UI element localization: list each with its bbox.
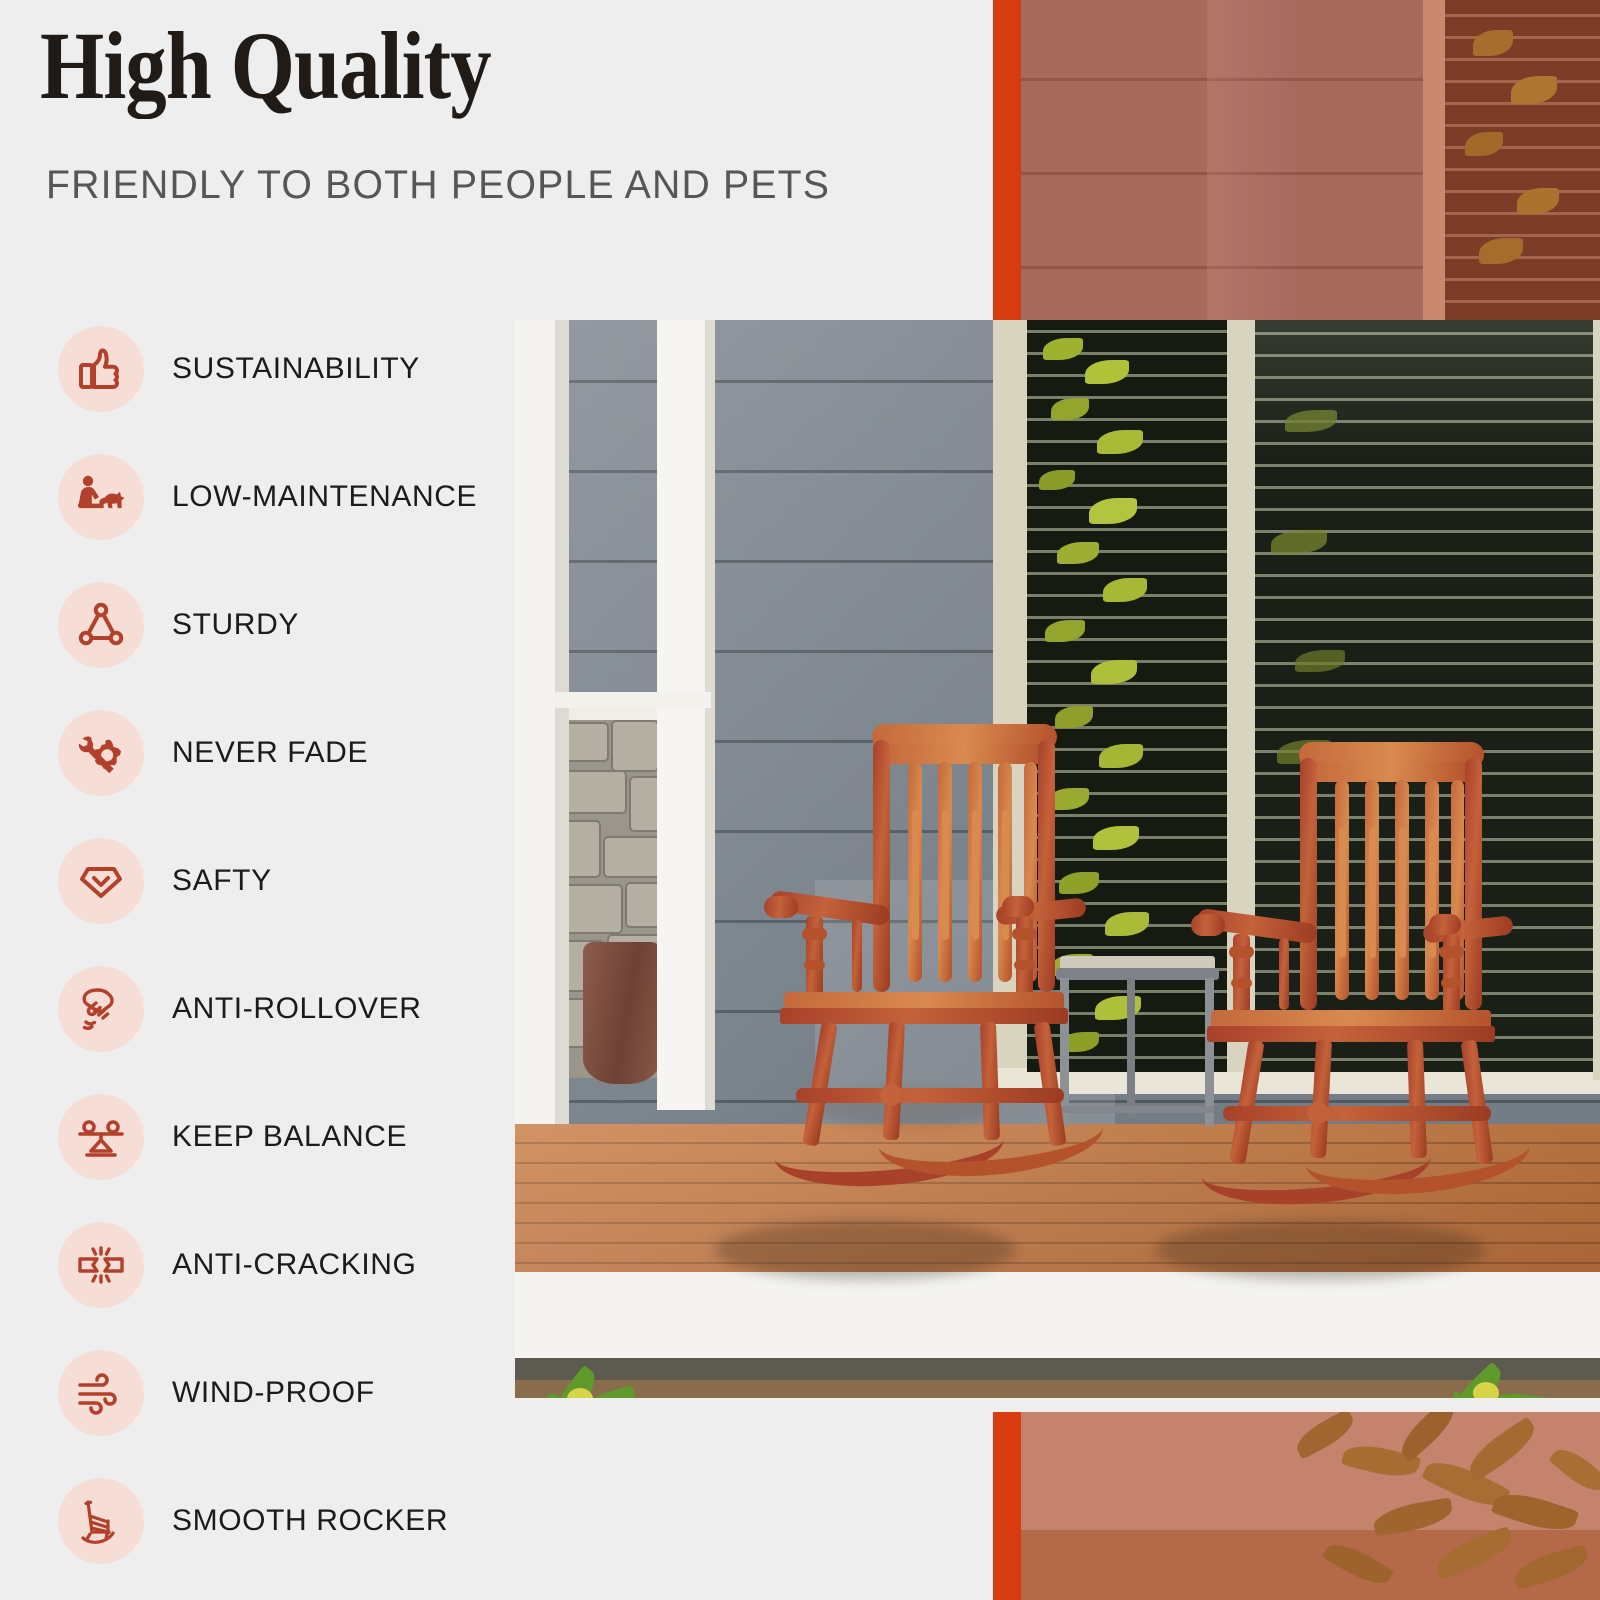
- rocking-chair-right: [1187, 738, 1532, 1208]
- feature-label: SUSTAINABILITY: [172, 352, 420, 386]
- feature-item: ANTI-CRACKING: [58, 1201, 488, 1329]
- hand-cloth-icon: [58, 966, 144, 1052]
- feature-item: SAFTY: [58, 817, 488, 945]
- product-photo: [515, 320, 1600, 1398]
- feature-item: STURDY: [58, 561, 488, 689]
- gear-wrench-icon: [58, 710, 144, 796]
- panel-tint-top: [1021, 0, 1600, 320]
- feature-label: WIND-PROOF: [172, 1376, 375, 1410]
- rocking-chair-left: [760, 720, 1105, 1190]
- feature-label: ANTI-CRACKING: [172, 1248, 416, 1282]
- decorative-panel-top: [993, 0, 1600, 320]
- cracking-board-icon: [58, 1222, 144, 1308]
- feature-label: ANTI-ROLLOVER: [172, 992, 422, 1026]
- feature-label: LOW-MAINTENANCE: [172, 480, 477, 514]
- feature-item: LOW-MAINTENANCE: [58, 433, 488, 561]
- page-subtitle: FRIENDLY TO BOTH PEOPLE AND PETS: [46, 163, 830, 208]
- decorative-panel-bottom: [993, 1412, 1600, 1600]
- page-title: High Quality: [40, 18, 491, 114]
- feature-item: SUSTAINABILITY: [58, 305, 488, 433]
- panel-tint-bottom: [1021, 1412, 1600, 1600]
- urn-planter: [583, 942, 661, 1084]
- feature-label: STURDY: [172, 608, 299, 642]
- feature-label: SAFTY: [172, 864, 272, 898]
- diamond-check-icon: [58, 838, 144, 924]
- wind-lines-icon: [58, 1350, 144, 1436]
- feature-item: WIND-PROOF: [58, 1329, 488, 1457]
- feature-label: KEEP BALANCE: [172, 1120, 407, 1154]
- feature-item: NEVER FADE: [58, 689, 488, 817]
- feature-item: KEEP BALANCE: [58, 1073, 488, 1201]
- poster-canvas: High Quality FRIENDLY TO BOTH PEOPLE AND…: [0, 0, 1600, 1600]
- rocking-chair-icon: [58, 1478, 144, 1564]
- feature-label: NEVER FADE: [172, 736, 368, 770]
- accent-stripe-bottom: [993, 1412, 1021, 1600]
- feature-list: SUSTAINABILITY LOW-MAINTENANCE: [58, 305, 488, 1585]
- accent-stripe-top: [993, 0, 1021, 320]
- person-with-dog-icon: [58, 454, 144, 540]
- seesaw-balance-icon: [58, 1094, 144, 1180]
- feature-item: SMOOTH ROCKER: [58, 1457, 488, 1585]
- triangle-nodes-icon: [58, 582, 144, 668]
- feature-item: ANTI-ROLLOVER: [58, 945, 488, 1073]
- feature-label: SMOOTH ROCKER: [172, 1504, 448, 1538]
- deck-skirt: [515, 1272, 1600, 1364]
- thumbs-up-icon: [58, 326, 144, 412]
